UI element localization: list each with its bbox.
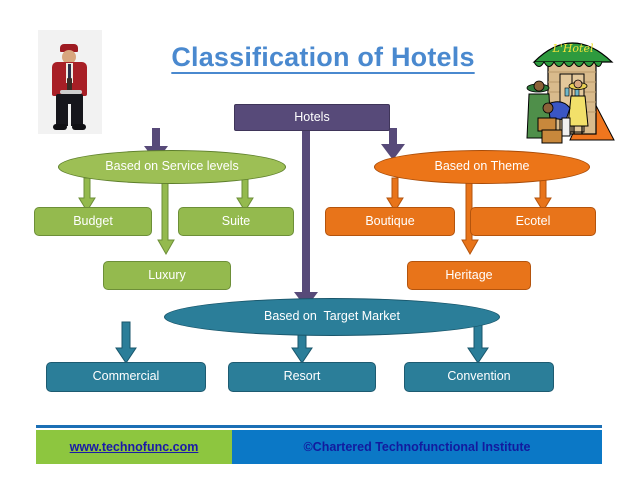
node-ecotel[interactable]: Ecotel <box>470 207 596 236</box>
node-convention[interactable]: Convention <box>404 362 554 392</box>
node-budget[interactable]: Budget <box>34 207 152 236</box>
node-heritage[interactable]: Heritage <box>407 261 531 290</box>
node-based-on-theme[interactable]: Based on Theme <box>374 150 590 184</box>
node-based-on-service-levels[interactable]: Based on Service levels <box>58 150 286 184</box>
footer-website-link[interactable]: www.technofunc.com <box>70 440 199 454</box>
slide-canvas: Classification of Hotels L'Hotel <box>0 0 638 493</box>
footer-copyright-block: ©Chartered Technofunctional Institute <box>232 430 602 464</box>
node-commercial[interactable]: Commercial <box>46 362 206 392</box>
footer-copyright-text: ©Chartered Technofunctional Institute <box>303 440 530 454</box>
node-hotels[interactable]: Hotels <box>234 104 390 131</box>
connector-lines <box>0 0 638 493</box>
footer-website-block: www.technofunc.com <box>36 430 232 464</box>
footer-divider <box>36 425 602 428</box>
node-luxury[interactable]: Luxury <box>103 261 231 290</box>
footer-bar: www.technofunc.com ©Chartered Technofunc… <box>36 430 602 464</box>
node-suite[interactable]: Suite <box>178 207 294 236</box>
node-resort[interactable]: Resort <box>228 362 376 392</box>
node-based-on-target-market[interactable]: Based on Target Market <box>164 298 500 336</box>
node-boutique[interactable]: Boutique <box>325 207 455 236</box>
